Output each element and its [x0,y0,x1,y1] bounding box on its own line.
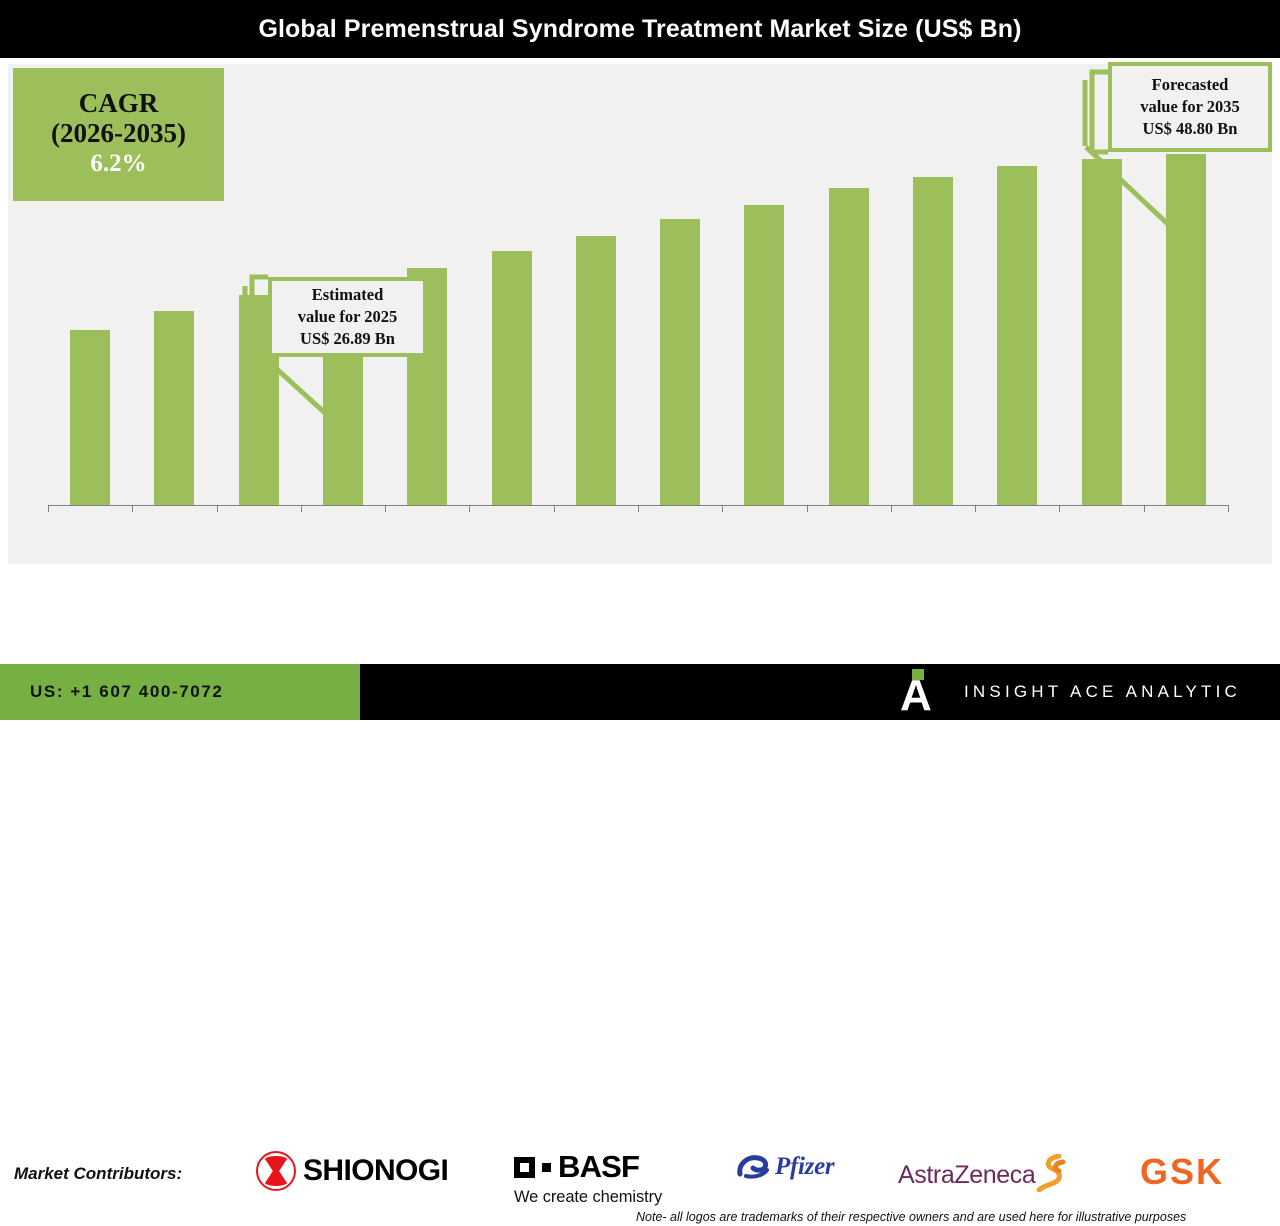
bar-2031[interactable] [829,188,869,505]
logo-basf: BASF We create chemistry [514,1149,662,1207]
x-axis-tick [48,505,49,512]
callout-forecasted-line3: US$ 48.80 Bn [1143,118,1238,140]
x-axis-tick [1059,505,1060,512]
basf-square-outline-icon [514,1157,535,1178]
callout-forecasted-2035: Forecasted value for 2035 US$ 48.80 Bn [1108,62,1272,152]
shionogi-icon [256,1151,296,1191]
x-axis-tick [469,505,470,512]
bar-2022[interactable] [70,330,110,505]
basf-wordmark: BASF [558,1149,639,1185]
brand-letter-a: A [900,679,942,715]
x-axis-tick [891,505,892,512]
x-axis-tick [975,505,976,512]
bar-2030[interactable] [744,205,784,505]
x-axis-tick [638,505,639,512]
footer-contact-block: US: +1 607 400-7072 [0,664,360,720]
x-axis-tick [301,505,302,512]
brand-name: INSIGHT ACE ANALYTIC [964,682,1241,702]
cagr-value: 6.2% [90,148,146,181]
bar-2028[interactable] [576,236,616,505]
x-axis-tick [217,505,218,512]
x-axis-tick [132,505,133,512]
bar-2032[interactable] [913,177,953,505]
callout-estimated-line1: Estimated [312,284,384,306]
infographic-page: Global Premenstrual Syndrome Treatment M… [0,0,1280,720]
contributors-strip: Market Contributors: SHIONOGI BASF We cr… [0,566,1280,664]
logo-astrazeneca: AstraZeneca [898,1154,1069,1197]
page-title: Global Premenstrual Syndrome Treatment M… [258,15,1021,44]
footer-bar: US: +1 607 400-7072 A INSIGHT ACE ANALYT… [0,664,1280,720]
bar-2033[interactable] [997,166,1037,505]
x-axis-tick [722,505,723,512]
logo-pfizer: Pfizer [736,1153,834,1181]
astrazeneca-swirl-icon [1033,1154,1069,1197]
callout-forecasted-line1: Forecasted [1152,74,1229,96]
x-axis-tick [807,505,808,512]
pfizer-wordmark: Pfizer [775,1153,834,1181]
contributors-label: Market Contributors: [14,1164,182,1184]
pfizer-swirl-icon [736,1154,770,1180]
basf-tagline: We create chemistry [514,1188,662,1207]
gsk-wordmark: GSK [1140,1151,1224,1193]
x-axis-tick [554,505,555,512]
cagr-badge: CAGR (2026-2035) 6.2% [13,68,224,201]
footer-phone[interactable]: US: +1 607 400-7072 [30,682,223,702]
basf-square-solid-icon [542,1163,551,1172]
callout-estimated-2025: Estimated value for 2025 US$ 26.89 Bn [268,277,427,357]
cagr-label: CAGR [79,88,159,118]
bar-2034[interactable] [1082,159,1122,505]
logo-shionogi: SHIONOGI [256,1151,448,1191]
brand-block: A INSIGHT ACE ANALYTIC [900,664,1241,720]
x-axis-tick [1144,505,1145,512]
shionogi-wordmark: SHIONOGI [303,1154,448,1188]
insightace-logo-icon: A [900,669,942,715]
callout-forecasted-line2: value for 2035 [1140,96,1240,118]
basf-wordmark-row: BASF [514,1149,639,1185]
title-bar: Global Premenstrual Syndrome Treatment M… [0,0,1280,58]
cagr-period: (2026-2035) [51,118,186,148]
bar-2027[interactable] [492,251,532,505]
trademark-note: Note- all logos are trademarks of their … [636,1210,1280,1226]
bar-2035[interactable] [1166,154,1206,505]
logo-gsk: GSK [1140,1151,1224,1193]
astrazeneca-wordmark: AstraZeneca [898,1161,1035,1190]
bar-2023[interactable] [154,311,194,505]
callout-estimated-line3: US$ 26.89 Bn [300,328,395,350]
callout-estimated-line2: value for 2025 [298,306,398,328]
x-axis-tick [1228,505,1229,512]
bar-2029[interactable] [660,219,700,505]
x-axis-tick [385,505,386,512]
